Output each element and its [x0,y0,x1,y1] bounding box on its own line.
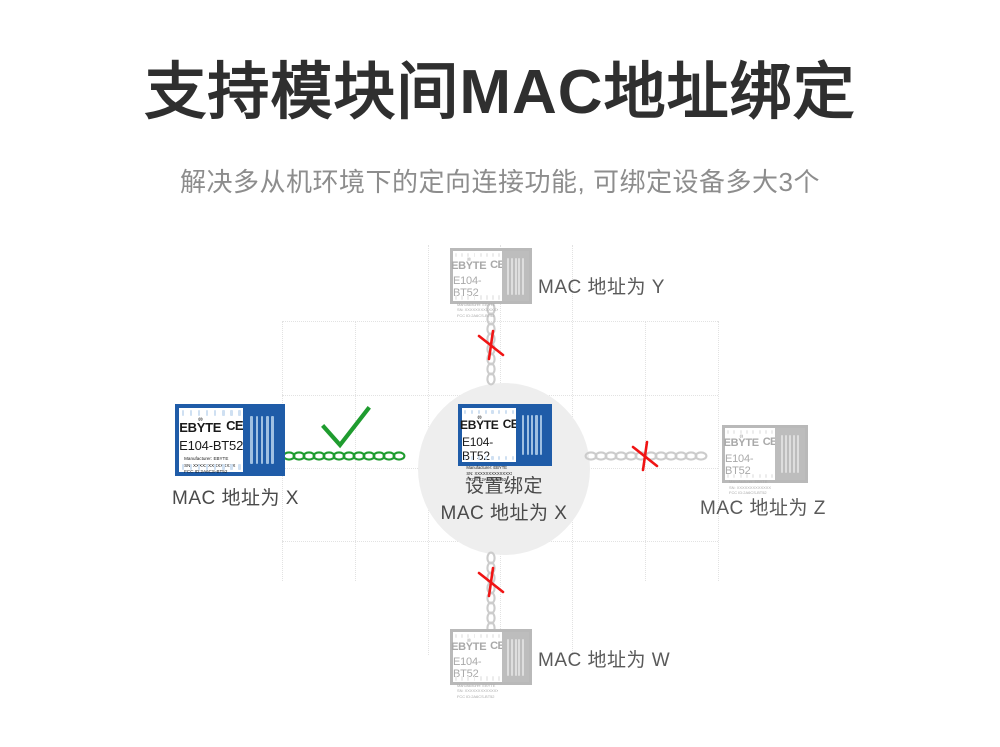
solder-pads-top [455,253,500,258]
solder-pads-bottom [455,676,500,681]
manufacturer-line: Manufacturer: EBYTE [184,456,238,463]
page-root: 支持模块间MAC地址绑定 解决多从机环境下的定向连接功能, 可绑定设备多大3个 [0,0,1000,747]
cross-icon [479,331,503,359]
brand-text: EBYTE [724,438,759,449]
solder-pads-top [455,634,500,639]
bluetooth-logo: ((•)) EBYTE [724,435,759,449]
brand-text: EBYTE [451,642,486,653]
bluetooth-logo: ((•)) EBYTE [451,258,486,272]
link-left-center [283,449,403,463]
diagram-stage: ((•)) EBYTE CE E104-BT52 Manufacturer: E… [0,225,1000,705]
chain-link-icon [284,452,405,459]
bluetooth-logo: ((•)) EBYTE [451,639,486,653]
solder-pads-top [464,410,514,415]
center-caption-line2: MAC 地址为 X [384,501,624,528]
solder-pads-bottom [182,464,241,470]
grid-line-h [282,321,718,322]
bottom-module[interactable]: ((•)) EBYTE CE E104-BT52 Manufacturer: E… [450,629,532,685]
fcc-line: FCC ID:2A6CS-BT52 [184,469,238,476]
pcb-antenna [516,408,548,462]
pcb-antenna [502,632,529,682]
cross-icon [479,568,503,596]
top-module-caption: MAC 地址为 Y [538,272,665,299]
bluetooth-logo: ((•)) EBYTE [460,416,499,432]
right-module-caption: MAC 地址为 Z [700,493,826,520]
solder-pads-bottom [727,474,773,479]
fcc-line: FCC ID:2A6CS-BT52 [457,313,498,319]
brand-text: EBYTE [460,419,499,431]
center-module[interactable]: ((•)) EBYTE CE E104-BT52 Manufacturer: E… [458,404,552,466]
brand-text: EBYTE [451,261,486,272]
center-caption-line1: 设置绑定 [384,474,624,501]
cross-marker-top [474,328,508,362]
bottom-module-caption: MAC 地址为 W [538,645,670,672]
check-marker [318,405,374,451]
page-title: 支持模块间MAC地址绑定 [0,58,1000,127]
left-module[interactable]: ((•)) EBYTE CE E104-BT52 Manufacturer: E… [175,404,285,476]
part-number: E104-BT52 [179,438,243,453]
grid-line-v [718,321,719,581]
right-module[interactable]: ((•)) EBYTE CE E104-BT52 Manufacturer: E… [722,425,808,483]
center-module-caption: 设置绑定 MAC 地址为 X [384,474,624,528]
pcb-antenna [243,408,281,472]
check-icon [324,409,368,445]
cross-icon [633,442,657,470]
cross-marker-bottom [474,565,508,599]
cross-marker-right [628,439,662,473]
left-module-caption: MAC 地址为 X [172,483,299,510]
brand-text: EBYTE [179,421,221,434]
pcb-antenna [775,428,805,480]
manufacturer-line: Manufacturer: EBYTE [729,479,771,485]
page-subtitle: 解决多从机环境下的定向连接功能, 可绑定设备多大3个 [0,162,1000,199]
fcc-line: FCC ID:2A6CS-BT52 [457,694,498,700]
solder-pads-bottom [455,295,500,300]
solder-pads-bottom [464,456,514,461]
solder-pads-top [727,430,773,435]
pcb-antenna [502,251,529,301]
top-module[interactable]: ((•)) EBYTE CE E104-BT52 Manufacturer: E… [450,248,532,304]
ce-mark-icon: CE [226,418,243,433]
bluetooth-logo: ((•)) EBYTE [179,417,221,434]
solder-pads-top [182,410,241,416]
